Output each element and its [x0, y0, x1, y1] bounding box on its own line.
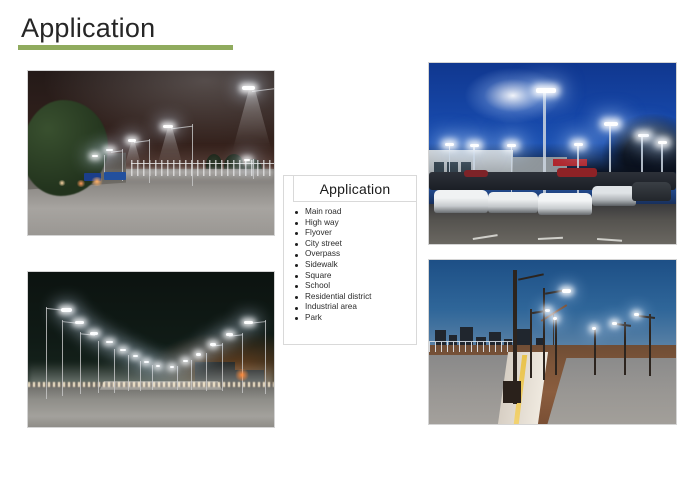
- lamp-pole: [46, 307, 47, 399]
- lamp-pole: [98, 341, 99, 393]
- lamp-pole: [62, 320, 63, 396]
- street-lamp: [210, 343, 223, 391]
- list-item: City street: [294, 239, 416, 250]
- lamp-head: [133, 355, 138, 357]
- street-lamp: [196, 353, 207, 391]
- lamp-pole: [265, 320, 266, 394]
- lamp-pole: [253, 159, 254, 179]
- list-item: Square: [294, 271, 416, 282]
- vehicle-light: [90, 177, 104, 186]
- lamp-head: [658, 141, 667, 144]
- photo-night-main-road: [27, 70, 275, 236]
- list-item: Sidewalk: [294, 260, 416, 271]
- lamp-head: [170, 366, 174, 368]
- lamp-head: [545, 309, 550, 312]
- title-underline-rule: [18, 45, 233, 50]
- page-title: Application: [21, 12, 155, 44]
- photo-parking-lot: [428, 62, 677, 245]
- street-lamp: [80, 332, 98, 394]
- lamp-head: [574, 143, 583, 146]
- lamp-arm: [134, 140, 150, 143]
- lamp-pole: [206, 353, 207, 391]
- lamp-head: [61, 308, 72, 312]
- lamp-head: [244, 321, 253, 324]
- street-lamp: [114, 349, 126, 393]
- street-lamp: [183, 360, 192, 390]
- lamp-head: [144, 361, 149, 363]
- list-item: Park: [294, 313, 416, 324]
- car-white: [434, 190, 488, 214]
- application-panel-header: Application: [293, 175, 417, 202]
- lamp-pole: [177, 366, 178, 390]
- lamp-pole: [543, 288, 545, 380]
- list-item: Residential district: [294, 292, 416, 303]
- list-item: Industrial area: [294, 302, 416, 313]
- road-right-lane: [548, 358, 677, 424]
- street-lamp: [128, 355, 138, 391]
- lamp-head: [507, 144, 516, 147]
- lamp-head: [106, 341, 113, 344]
- list-item: Overpass: [294, 249, 416, 260]
- lamp-pole: [114, 349, 115, 393]
- photo-overpass-skyline: [428, 259, 677, 425]
- parking-lot-scene: [429, 63, 676, 244]
- guard-rail: [429, 342, 513, 352]
- lamp-head: [536, 88, 556, 93]
- list-item: Main road: [294, 207, 416, 218]
- lamp-pole: [530, 309, 532, 378]
- street-lamp: [244, 159, 254, 179]
- lamp-pole: [149, 139, 150, 183]
- street-lamp: [244, 320, 266, 394]
- highway-night-scene: [28, 272, 274, 427]
- lamp-head: [183, 360, 188, 362]
- lamp-head: [470, 144, 479, 147]
- lamp-pole: [649, 314, 651, 376]
- lamp-head: [90, 332, 98, 335]
- lamp-head: [128, 139, 136, 142]
- night-road-scene: [28, 71, 274, 235]
- car-white: [538, 193, 592, 215]
- lamp-head: [92, 155, 98, 157]
- lamp-pole: [192, 124, 193, 186]
- lamp-pole: [128, 355, 129, 391]
- lamp-head: [553, 317, 557, 320]
- car-white: [592, 186, 636, 206]
- lamp-head: [75, 321, 84, 324]
- lamp-pole: [152, 365, 153, 390]
- lamp-head: [638, 134, 649, 138]
- vehicle-light: [234, 369, 250, 381]
- lamp-pole: [222, 343, 223, 391]
- lamp-head: [156, 365, 160, 367]
- street-lamp: [140, 361, 149, 391]
- lamp-head: [604, 122, 618, 126]
- vehicle-light: [58, 180, 66, 186]
- lamp-head: [226, 333, 233, 336]
- car-red: [464, 170, 489, 177]
- application-panel-header-label: Application: [320, 181, 391, 197]
- street-lamp: [226, 333, 243, 393]
- lamp-pole: [191, 360, 192, 390]
- overpass-scene: [429, 260, 676, 424]
- street-lamp: [152, 365, 160, 390]
- lamp-head: [196, 353, 201, 356]
- lamp-head: [592, 327, 596, 330]
- photo-highway-lamps: [27, 271, 275, 428]
- lamp-head: [445, 143, 454, 146]
- road-sign-blue: [104, 172, 126, 180]
- lamp-pole: [624, 322, 626, 374]
- car-white: [488, 192, 537, 214]
- list-item: School: [294, 281, 416, 292]
- street-lamp: [98, 341, 113, 393]
- lamp-pole: [140, 361, 141, 391]
- lamp-pole: [242, 333, 243, 393]
- street-lamp: [128, 139, 150, 183]
- lamp-head: [210, 343, 216, 346]
- lamp-head: [242, 86, 255, 90]
- lamp-arm: [171, 125, 193, 129]
- street-lamp: [170, 366, 178, 390]
- lamp-pole: [80, 332, 81, 394]
- slide-canvas: Application: [0, 0, 700, 496]
- red-signage: [553, 159, 588, 166]
- street-lamp: [163, 124, 193, 186]
- lamp-pole: [594, 329, 595, 375]
- list-item: Flyover: [294, 228, 416, 239]
- lamp-head: [562, 289, 571, 293]
- car-red: [557, 168, 597, 177]
- lamp-pole: [555, 319, 557, 375]
- lamp-head: [612, 322, 617, 325]
- lamp-head: [244, 159, 250, 161]
- lamp-head: [120, 349, 126, 352]
- lamp-head: [163, 125, 173, 128]
- car-dark: [632, 182, 672, 200]
- pole-base-box: [503, 381, 521, 403]
- list-item: High way: [294, 218, 416, 229]
